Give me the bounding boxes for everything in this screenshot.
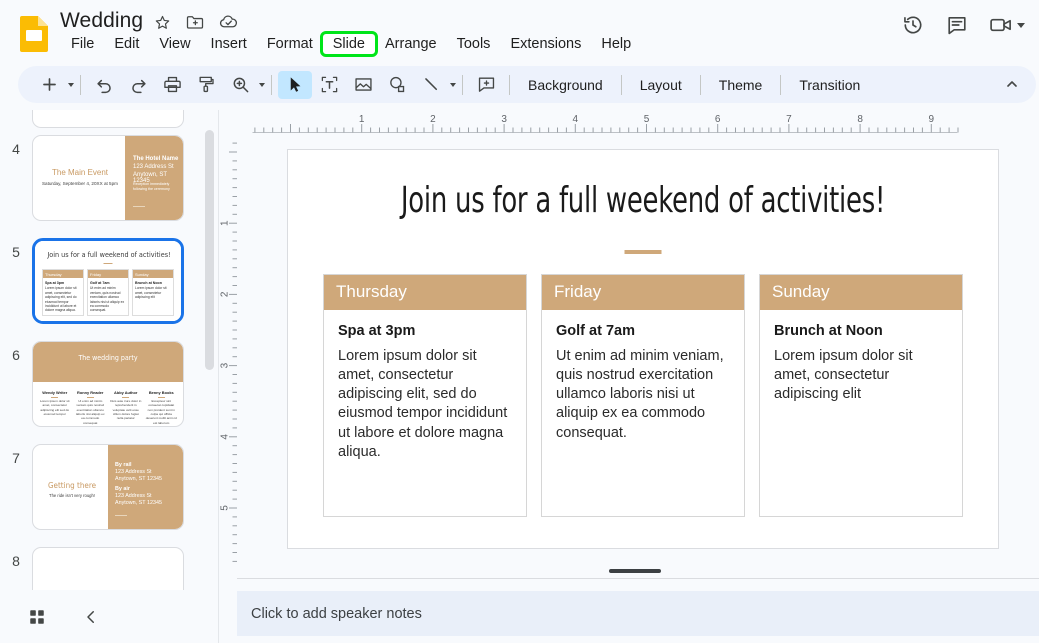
menu-insert[interactable]: Insert [201, 34, 257, 54]
document-title[interactable]: Wedding [60, 9, 143, 33]
thumb5-ev-1: Golf at 7am [90, 281, 126, 285]
svg-text:5: 5 [220, 505, 231, 511]
activity-card-thursday[interactable]: Thursday Spa at 3pm Lorem ipsum dolor si… [323, 274, 527, 517]
grid-view-button[interactable] [20, 600, 54, 634]
svg-text:4: 4 [220, 434, 231, 440]
speaker-notes-pane[interactable]: Click to add speaker notes [237, 591, 1039, 636]
cloud-saved-icon[interactable] [218, 12, 238, 32]
svg-text:1: 1 [220, 220, 231, 226]
line-button[interactable] [414, 71, 448, 99]
menu-file[interactable]: File [61, 34, 104, 54]
thumb7-title: Getting there [37, 481, 107, 490]
menu-format[interactable]: Format [257, 34, 323, 54]
toolbar-separator [700, 75, 701, 95]
speaker-notes-placeholder[interactable]: Click to add speaker notes [237, 606, 422, 622]
select-tool-button[interactable] [278, 71, 312, 99]
menu-slide[interactable]: Slide [323, 34, 375, 54]
thumb5-tx-2: Lorem ipsum dolor sit amet, consectetur … [135, 286, 171, 299]
svg-text:1: 1 [359, 114, 365, 125]
toolbar-separator [80, 75, 81, 95]
filmstrip-scrollbar[interactable] [205, 130, 214, 460]
thumb7-l1: 123 Address St [115, 469, 152, 475]
card-text-thursday: Lorem ipsum dolor sit amet, consectetur … [338, 347, 512, 462]
toolbar-separator [621, 75, 622, 95]
thumb4-note: Reception immediately following the cere… [133, 182, 179, 191]
menu-help[interactable]: Help [591, 34, 641, 54]
layout-button[interactable]: Layout [628, 73, 694, 97]
activity-card-friday[interactable]: Friday Golf at 7am Ut enim ad minim veni… [541, 274, 745, 517]
vertical-ruler: 12345 [218, 134, 238, 580]
thumb5-tx-0: Lorem ipsum dolor sit amet, consectetur … [45, 286, 81, 313]
slide-number-5: 5 [0, 238, 32, 260]
thumb5-col-0: Thursday [43, 270, 83, 278]
redo-button[interactable] [121, 71, 155, 99]
move-to-folder-icon[interactable] [185, 12, 205, 32]
comment-add-button[interactable] [469, 71, 503, 99]
menu-extensions[interactable]: Extensions [500, 34, 591, 54]
line-caret-icon[interactable] [450, 83, 456, 87]
card-day-sunday: Sunday [760, 275, 962, 310]
thumb7-l3: 123 Address St [115, 493, 152, 499]
thumb5-tx-1: Ut enim ad minim veniam, quis nostrud ex… [90, 286, 126, 313]
star-icon[interactable] [152, 12, 172, 32]
new-slide-button[interactable] [32, 71, 66, 99]
image-button[interactable] [346, 71, 380, 99]
card-day-friday: Friday [542, 275, 744, 310]
zoom-caret-icon[interactable] [259, 83, 265, 87]
menu-tools[interactable]: Tools [447, 34, 501, 54]
slide-thumbnail-6[interactable]: The wedding party Wendy Writer Lorem ips… [32, 341, 184, 427]
slide-thumbnail-7[interactable]: Getting there The ride isn't very rough!… [32, 444, 184, 530]
menu-bar: File Edit View Insert Format Slide Arran… [61, 34, 641, 54]
toolbar-separator [780, 75, 781, 95]
thumb7-l2: Anytown, ST 12345 [115, 476, 162, 482]
notes-divider [237, 578, 1039, 579]
slides-app-icon [18, 14, 50, 52]
slide-thumbnail-3[interactable] [32, 110, 184, 128]
filmstrip-footer [0, 590, 218, 643]
card-event-sunday: Brunch at Noon [774, 323, 948, 339]
present-options-caret-icon[interactable] [1017, 23, 1025, 28]
slide-thumbnail-4[interactable]: The Main Event Saturday, September 4, 20… [32, 135, 184, 221]
title-icon-group [152, 12, 238, 32]
svg-text:6: 6 [715, 114, 721, 125]
zoom-button[interactable] [223, 71, 257, 99]
slide-number-4: 4 [0, 135, 32, 157]
top-right-actions [902, 14, 1025, 36]
card-event-friday: Golf at 7am [556, 323, 730, 339]
collapse-toolbar-button[interactable] [998, 70, 1026, 98]
print-button[interactable] [155, 71, 189, 99]
background-button[interactable]: Background [516, 73, 615, 97]
toolbar-separator [271, 75, 272, 95]
main-toolbar: Background Layout Theme Transition [18, 66, 1036, 103]
thumb4-subtitle: Saturday, September 4, 20XX at 5pm [37, 181, 123, 186]
thumb5-col-1: Friday [88, 270, 128, 278]
thumb7-l4: Anytown, ST 12345 [115, 500, 162, 506]
comment-icon[interactable] [946, 14, 968, 36]
version-history-icon[interactable] [902, 14, 924, 36]
thumb7-subtitle: The ride isn't very rough! [35, 493, 109, 498]
title-accent-rule [625, 250, 662, 254]
slide-canvas[interactable]: Join us for a full weekend of activities… [237, 134, 1039, 580]
collapse-filmstrip-button[interactable] [74, 600, 108, 634]
svg-text:3: 3 [501, 114, 507, 125]
present-video-icon[interactable] [990, 16, 1025, 34]
thumb4-title: The Main Event [41, 168, 119, 177]
thumb6-person-0: Wendy Writer [39, 390, 71, 395]
svg-text:8: 8 [857, 114, 863, 125]
activity-cards: Thursday Spa at 3pm Lorem ipsum dolor si… [323, 274, 963, 517]
slide-number-7: 7 [0, 444, 32, 466]
slide-number-6: 6 [0, 341, 32, 363]
thumb5-title: Join us for a full weekend of activities… [39, 250, 179, 259]
svg-text:5: 5 [644, 114, 650, 125]
text-box-button[interactable] [312, 71, 346, 99]
new-slide-caret-icon[interactable] [68, 83, 74, 87]
svg-text:3: 3 [220, 362, 231, 368]
thumb6-person-2: Abby Author [110, 390, 142, 395]
thumb6-person-1: Ronny Reader [75, 390, 107, 395]
thumb7-h2: By air [115, 486, 130, 492]
svg-text:9: 9 [929, 114, 935, 125]
thumb4-addr1: 123 Address St [133, 164, 174, 170]
thumb5-ev-0: Spa at 3pm [45, 281, 81, 285]
slide-title[interactable]: Join us for a full weekend of activities… [359, 180, 927, 221]
toolbar-separator [462, 75, 463, 95]
transition-button[interactable]: Transition [787, 73, 872, 97]
card-day-thursday: Thursday [324, 275, 526, 310]
shape-button[interactable] [380, 71, 414, 99]
card-event-thursday: Spa at 3pm [338, 323, 512, 339]
card-text-friday: Ut enim ad minim veniam, quis nostrud ex… [556, 347, 730, 443]
thumb4-hotel: The Hotel Name [133, 156, 178, 162]
slide-filmstrip[interactable]: 3 4 The Main Event Saturday, September 4… [0, 110, 218, 590]
theme-button[interactable]: Theme [707, 73, 775, 97]
svg-text:2: 2 [430, 114, 436, 125]
slide-thumbnail-8[interactable] [32, 547, 184, 590]
notes-resize-handle[interactable] [609, 569, 661, 573]
slide-number-8: 8 [0, 547, 32, 569]
current-slide[interactable]: Join us for a full weekend of activities… [287, 149, 999, 549]
card-text-sunday: Lorem ipsum dolor sit amet, consectetur … [774, 347, 948, 404]
filmstrip-scrollbar-thumb[interactable] [205, 130, 214, 370]
paint-format-button[interactable] [189, 71, 223, 99]
svg-text:2: 2 [220, 291, 231, 297]
thumb5-col-2: Sunday [133, 270, 173, 278]
toolbar-separator [509, 75, 510, 95]
top-bar: Wedding File Edit [0, 0, 1039, 66]
menu-arrange[interactable]: Arrange [375, 34, 447, 54]
thumb5-ev-2: Brunch at Noon [135, 281, 171, 285]
slide-thumbnail-5[interactable]: Join us for a full weekend of activities… [32, 238, 184, 324]
undo-button[interactable] [87, 71, 121, 99]
thumb7-h1: By rail [115, 462, 131, 468]
thumb6-title: The wedding party [33, 354, 183, 362]
activity-card-sunday[interactable]: Sunday Brunch at Noon Lorem ipsum dolor … [759, 274, 963, 517]
svg-text:4: 4 [573, 114, 579, 125]
thumb6-person-3: Benny Books [146, 390, 178, 395]
menu-edit[interactable]: Edit [104, 34, 149, 54]
menu-view[interactable]: View [149, 34, 200, 54]
svg-text:7: 7 [786, 114, 792, 125]
horizontal-ruler: 123456789 [237, 112, 1037, 134]
